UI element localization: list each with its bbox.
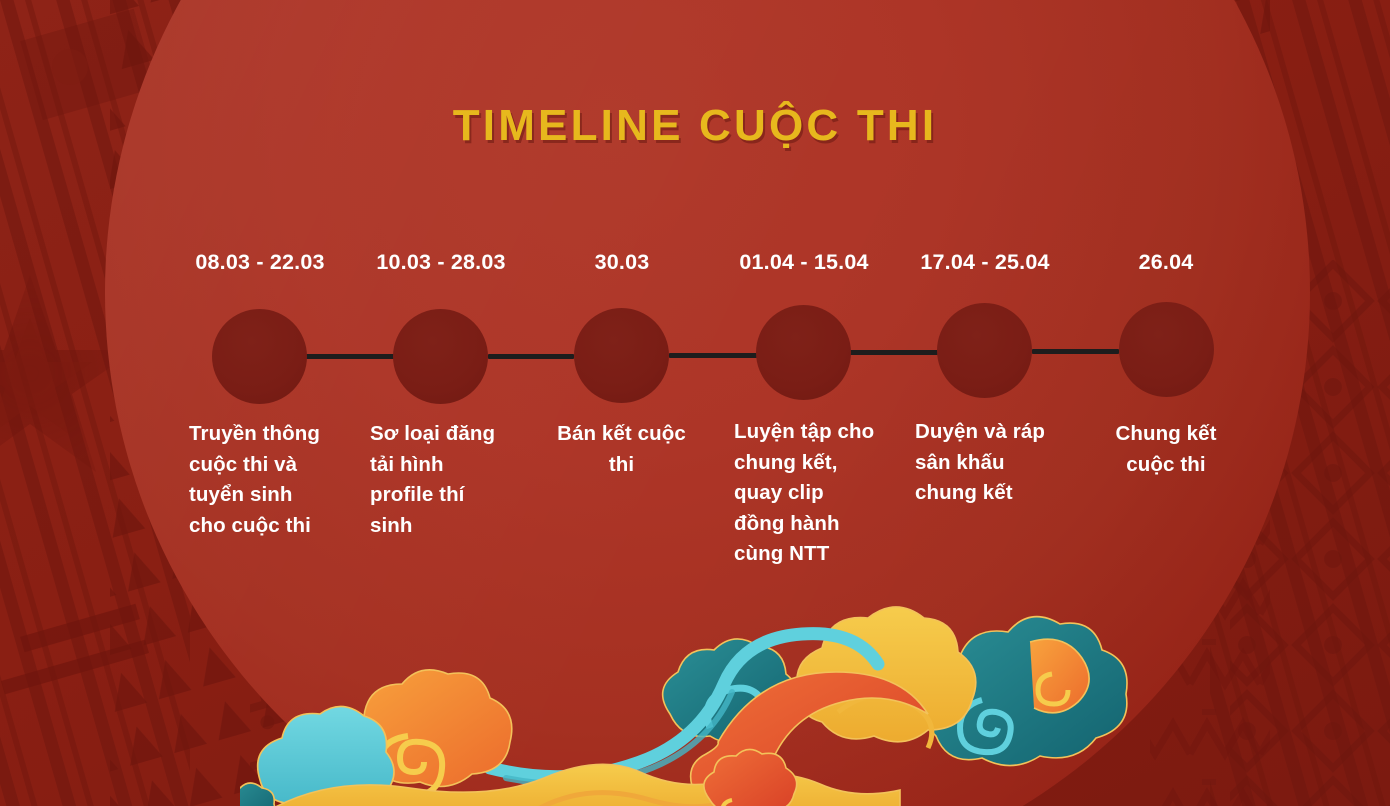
- timeline-date-3: 30.03: [522, 250, 722, 275]
- timeline-description-1: Truyền thông cuộc thi và tuyển sinh cho …: [189, 419, 332, 541]
- timeline-date-1: 08.03 - 22.03: [160, 250, 360, 275]
- timeline-date-4: 01.04 - 15.04: [704, 250, 904, 275]
- timeline-node-2[interactable]: [393, 309, 488, 404]
- timeline-connector-5: [1032, 349, 1119, 354]
- timeline-description-4: Luyện tập cho chung kết, quay clip đồng …: [734, 417, 880, 570]
- timeline-node-1[interactable]: [212, 309, 307, 404]
- timeline-node-3[interactable]: [574, 308, 669, 403]
- timeline-description-6: Chung kết cuộc thi: [1092, 419, 1240, 480]
- oriental-cloud-ornament: [240, 582, 1140, 806]
- timeline-date-2: 10.03 - 28.03: [341, 250, 541, 275]
- timeline-poster: TIMELINE CUỘC THI 08.03 - 22.03 10.03 - …: [0, 0, 1390, 806]
- timeline-date-6: 26.04: [1066, 250, 1266, 275]
- timeline-description-5: Duyện và ráp sân khấu chung kết: [915, 417, 1059, 509]
- timeline-node-5[interactable]: [937, 303, 1032, 398]
- timeline-connector-4: [850, 350, 938, 355]
- timeline-date-5: 17.04 - 25.04: [885, 250, 1085, 275]
- timeline-node-4[interactable]: [756, 305, 851, 400]
- timeline-description-2: Sơ loại đăng tải hình profile thí sinh: [370, 419, 502, 541]
- timeline-connector-2: [488, 354, 574, 359]
- timeline-node-6[interactable]: [1119, 302, 1214, 397]
- timeline-connector-3: [669, 353, 757, 358]
- timeline-description-3: Bán kết cuộc thi: [551, 419, 692, 480]
- timeline-connector-1: [306, 354, 396, 359]
